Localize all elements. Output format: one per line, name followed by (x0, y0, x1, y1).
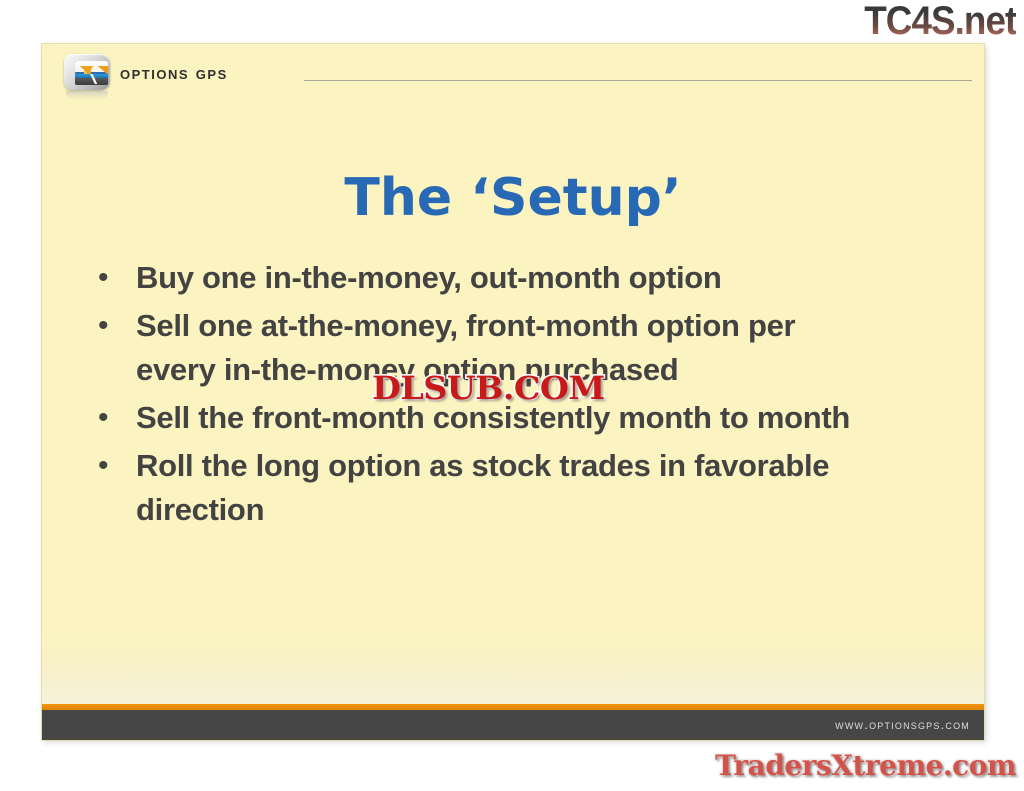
page-title: The ‘Setup’ (42, 169, 984, 227)
gps-device-screen (75, 61, 108, 85)
footer-url: www.OptionsGPS.com (835, 717, 970, 732)
presentation-slide: Options GPS The ‘Setup’ • Buy one in-the… (42, 44, 984, 740)
bullet-marker-icon: • (92, 444, 136, 488)
header-divider (304, 80, 972, 81)
bullet-marker-icon: • (92, 256, 136, 300)
bullet-text: Buy one in-the-money, out-month option (136, 256, 876, 300)
brand-name: Options GPS (120, 63, 228, 85)
bullet-marker-icon: • (92, 396, 136, 440)
slide-header: Options GPS (42, 44, 984, 106)
bullet-marker-icon: • (92, 304, 136, 348)
gps-device-body (64, 54, 110, 90)
tc4s-watermark: TC4S.net (864, 0, 1016, 44)
tradersxtreme-watermark: TradersXtreme.com (715, 749, 1016, 783)
list-item: • Roll the long option as stock trades i… (92, 444, 944, 532)
bullet-text: Roll the long option as stock trades in … (136, 444, 876, 532)
slide-footer: www.OptionsGPS.com (42, 710, 984, 740)
slide-background-fade (42, 634, 984, 704)
gps-device-icon (60, 52, 112, 96)
dlsub-watermark: DLSUB.COM (372, 369, 605, 407)
list-item: • Buy one in-the-money, out-month option (92, 256, 944, 300)
screen-road (75, 78, 108, 85)
gps-device-reflection (66, 91, 108, 100)
